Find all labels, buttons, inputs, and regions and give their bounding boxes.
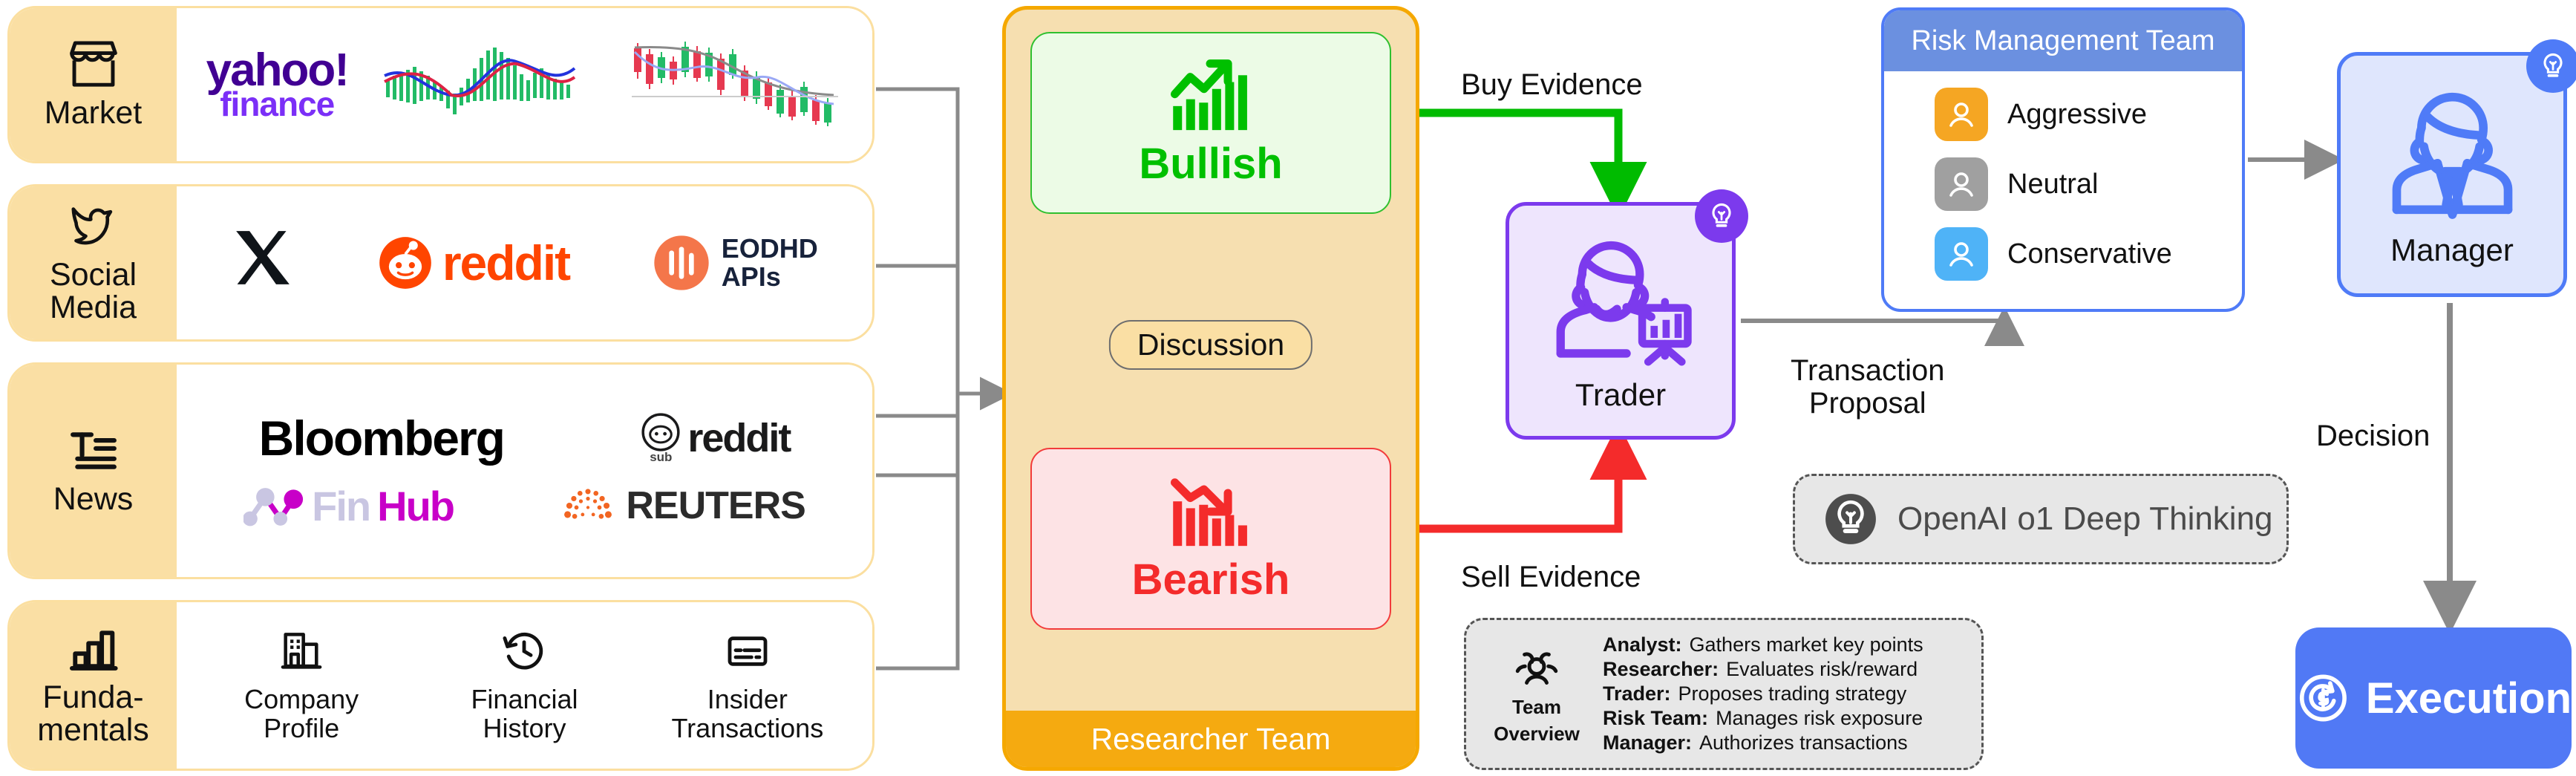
people-group-icon (1508, 643, 1565, 692)
twitter-bird-icon (65, 201, 122, 252)
role-name: Trader: (1603, 682, 1671, 705)
reuters-logo: REUTERS (560, 483, 805, 529)
financial-history-item[interactable]: Financial History (435, 627, 613, 743)
risk-team-header: Risk Management Team (1884, 10, 2242, 71)
team-overview-legend: Team Overview Analyst:Gathers market key… (1464, 618, 1984, 770)
manager-card[interactable]: Manager (2337, 52, 2567, 297)
source-body-news: Bloomberg sub reddit (177, 365, 872, 577)
source-label-social: Social Media (50, 259, 137, 325)
subreddit-mark-icon (641, 413, 680, 451)
article-text-icon (65, 426, 122, 476)
eodhd-text: EODHD APIs (722, 235, 818, 291)
execution-card[interactable]: Execution (2295, 627, 2572, 769)
team-overview-title-line2: Overview (1494, 723, 1580, 745)
finhub-logo: FinHub (243, 480, 454, 532)
txn-line2: Proposal (1791, 387, 1945, 420)
manager-label: Manager (2390, 232, 2514, 268)
person-presentation-icon (1543, 229, 1699, 374)
insider-transactions-label: Insider Transactions (671, 685, 823, 743)
edge-label-decision: Decision (2316, 420, 2430, 452)
bearish-label: Bearish (1132, 555, 1290, 604)
bearish-researcher-card[interactable]: Bearish (1030, 448, 1391, 630)
risk-member-aggressive[interactable]: Aggressive (1935, 88, 2242, 141)
risk-member-conservative[interactable]: Conservative (1935, 227, 2242, 281)
role-name: Manager: (1603, 731, 1692, 754)
role-desc: Evaluates risk/reward (1726, 658, 1918, 680)
x-logo-glyph (231, 226, 295, 290)
discussion-pill[interactable]: Discussion (1109, 320, 1312, 370)
team-overview-row: Manager:Authorizes transactions (1603, 731, 1923, 754)
bullish-researcher-card[interactable]: Bullish (1030, 32, 1391, 214)
team-overview-title-line1: Team (1512, 697, 1561, 718)
role-desc: Proposes trading strategy (1678, 682, 1907, 705)
risk-member-neutral[interactable]: Neutral (1935, 157, 2242, 211)
insider-transactions-item[interactable]: Insider Transactions (658, 627, 837, 743)
edge-label-sell-evidence: Sell Evidence (1461, 561, 1641, 593)
txn-line1: Transaction (1791, 354, 1945, 387)
person-avatar-glyph (1944, 166, 1979, 202)
candlestick-chart (627, 33, 843, 137)
reuters-dots-icon (560, 483, 615, 529)
role-name: Risk Team: (1603, 707, 1708, 729)
source-tab-fundamentals: Funda- mentals (10, 602, 177, 769)
x-logo (231, 226, 295, 300)
team-overview-heading: Team Overview (1481, 643, 1592, 744)
source-row-social[interactable]: Social Media reddit (7, 184, 875, 342)
risk-member-label: Conservative (2007, 238, 2172, 270)
source-row-market[interactable]: Market yahoo! finance (7, 6, 875, 163)
source-body-market: yahoo! finance (177, 8, 872, 161)
team-overview-row: Researcher:Evaluates risk/reward (1603, 658, 1923, 681)
volume-oscillator-chart (380, 39, 595, 131)
edge-label-buy-evidence: Buy Evidence (1461, 68, 1643, 101)
team-overview-row: Analyst:Gathers market key points (1603, 633, 1923, 656)
reddit-mascot-icon (377, 235, 434, 291)
researcher-team-label: Researcher Team (1091, 722, 1331, 757)
source-row-news[interactable]: News Bloomberg sub reddit (7, 362, 875, 579)
lightbulb-icon (2526, 39, 2576, 93)
source-tab-market: Market (10, 8, 177, 161)
source-tab-social: Social Media (10, 186, 177, 339)
lightbulb-circle-icon (1823, 492, 1878, 547)
lightbulb-icon (1695, 189, 1748, 243)
trend-down-bars-icon (1166, 473, 1255, 550)
person-avatar-glyph (1944, 97, 1979, 132)
storefront-icon (65, 39, 122, 90)
person-avatar-icon (1935, 157, 1988, 211)
bar-chart-icon (65, 624, 122, 674)
reddit-logo: reddit (377, 235, 569, 291)
lightbulb-glyph (2537, 50, 2569, 82)
source-label-news: News (53, 483, 134, 516)
researcher-team-panel[interactable]: Bullish Discussion Bearish Res (1002, 6, 1419, 771)
dollar-refresh-icon (2295, 659, 2351, 737)
person-avatar-icon (1935, 227, 1988, 281)
yahoo-finance-logo: yahoo! finance (206, 51, 348, 119)
eodhd-mark-icon (652, 233, 711, 293)
clock-history-icon (500, 627, 548, 675)
edge-label-transaction-proposal: Transaction Proposal (1791, 354, 1945, 420)
openai-deep-thinking-badge: OpenAI o1 Deep Thinking (1793, 474, 2289, 564)
team-overview-row: Trader:Proposes trading strategy (1603, 682, 1923, 705)
lightbulb-glyph (1705, 200, 1738, 232)
bloomberg-logo: Bloomberg (259, 410, 504, 466)
role-name: Researcher: (1603, 658, 1719, 680)
person-avatar-glyph (1944, 236, 1979, 272)
role-name: Analyst: (1603, 633, 1682, 656)
bullish-label: Bullish (1139, 139, 1282, 189)
risk-team-title: Risk Management Team (1911, 25, 2214, 57)
researcher-team-footer: Researcher Team (1006, 711, 1416, 767)
role-desc: Gathers market key points (1690, 633, 1923, 656)
source-body-social: reddit EODHD APIs (177, 186, 872, 339)
risk-member-label: Aggressive (2007, 99, 2147, 131)
source-label-fundamentals: Funda- mentals (37, 682, 149, 747)
finhub-mark-icon (243, 480, 304, 532)
role-desc: Authorizes transactions (1699, 731, 1908, 754)
role-desc: Manages risk exposure (1716, 707, 1923, 729)
card-lines-icon (724, 627, 771, 675)
risk-member-label: Neutral (2007, 169, 2099, 200)
execution-label: Execution (2366, 674, 2572, 723)
person-avatar-icon (1935, 88, 1988, 141)
source-tab-news: News (10, 365, 177, 577)
source-row-fundamentals[interactable]: Funda- mentals Company Profile (7, 600, 875, 771)
diagram-canvas: Market yahoo! finance (0, 0, 2576, 776)
person-suit-tie-icon (2376, 81, 2528, 229)
eodhd-apis-logo: EODHD APIs (652, 233, 818, 293)
risk-management-team-panel[interactable]: Risk Management Team Aggressive (1881, 7, 2245, 312)
trader-card[interactable]: Trader (1506, 202, 1736, 440)
company-profile-item[interactable]: Company Profile (212, 627, 390, 743)
source-label-market: Market (45, 97, 142, 130)
source-body-fundamentals: Company Profile Financial History (177, 602, 872, 769)
subreddit-logo: sub reddit (641, 413, 790, 463)
risk-team-members: Aggressive Neutral Conse (1884, 71, 2242, 281)
building-icon (278, 627, 325, 675)
discussion-label: Discussion (1137, 327, 1284, 362)
financial-history-label: Financial History (471, 685, 578, 743)
trend-up-bars-icon (1166, 57, 1255, 134)
team-overview-rows: Analyst:Gathers market key points Resear… (1603, 633, 1923, 754)
trader-label: Trader (1575, 377, 1666, 413)
team-overview-row: Risk Team:Manages risk exposure (1603, 707, 1923, 730)
openai-badge-label: OpenAI o1 Deep Thinking (1897, 501, 2273, 538)
subreddit-badge-text: sub (650, 451, 672, 463)
company-profile-label: Company Profile (244, 685, 359, 743)
